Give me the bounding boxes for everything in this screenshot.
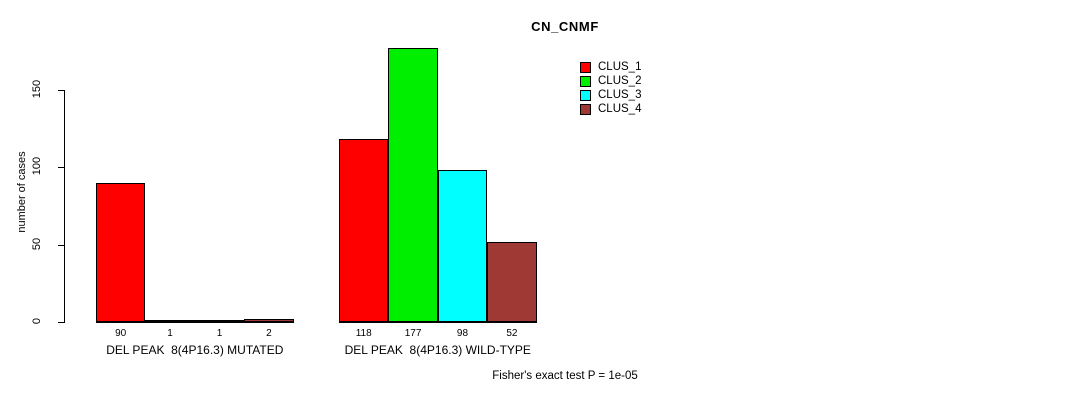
bar-value-label: 90	[96, 328, 145, 339]
bar-value-label: 2	[244, 328, 293, 339]
legend-item-label: CLUS_4	[598, 104, 641, 115]
group-baseline	[339, 322, 537, 323]
bar-clus_4	[487, 242, 536, 322]
chart-title: CN_CNMF	[0, 19, 1090, 34]
legend-item-clus_1: CLUS_1	[580, 60, 641, 74]
bar-clus_3	[438, 170, 487, 322]
group-baseline	[96, 322, 294, 323]
bar-value-label: 1	[195, 328, 244, 339]
legend-item-clus_4: CLUS_4	[580, 102, 641, 116]
y-tick-mark	[58, 322, 65, 323]
y-tick-mark	[58, 167, 65, 168]
legend-item-label: CLUS_3	[598, 90, 641, 101]
chart-legend: CLUS_1CLUS_2CLUS_3CLUS_4	[580, 60, 641, 116]
legend-item-label: CLUS_1	[598, 62, 641, 73]
y-tick-label: 50	[31, 227, 43, 261]
y-tick-mark	[58, 90, 65, 91]
bar-clus_2	[388, 48, 437, 322]
legend-swatch-icon	[580, 76, 591, 87]
legend-item-label: CLUS_2	[598, 76, 641, 87]
bar-value-label: 177	[388, 328, 437, 339]
footer-note: Fisher's exact test P = 1e-05	[0, 370, 1090, 382]
bar-value-label: 1	[145, 328, 194, 339]
x-axis-group-label: DEL PEAK 8(4P16.3) WILD-TYPE	[259, 343, 617, 357]
chart-canvas: CN_CNMF number of cases 050100150 90112D…	[0, 0, 1090, 400]
y-tick-mark	[58, 245, 65, 246]
bar-value-label: 52	[487, 328, 536, 339]
bar-clus_1	[339, 139, 388, 322]
bar-value-label: 118	[339, 328, 388, 339]
legend-swatch-icon	[580, 62, 591, 73]
chart-title-text: CN_CNMF	[531, 19, 599, 34]
bar-clus_1	[96, 183, 145, 322]
legend-item-clus_2: CLUS_2	[580, 74, 641, 88]
y-tick-label: 150	[31, 72, 43, 106]
y-axis-line	[64, 90, 65, 323]
y-tick-label: 100	[31, 149, 43, 183]
legend-swatch-icon	[580, 104, 591, 115]
footer-note-text: Fisher's exact test P = 1e-05	[492, 370, 638, 382]
bar-value-label: 98	[438, 328, 487, 339]
legend-item-clus_3: CLUS_3	[580, 88, 641, 102]
legend-swatch-icon	[580, 90, 591, 101]
y-tick-label: 0	[31, 304, 43, 338]
y-axis-title: number of cases	[16, 132, 28, 252]
